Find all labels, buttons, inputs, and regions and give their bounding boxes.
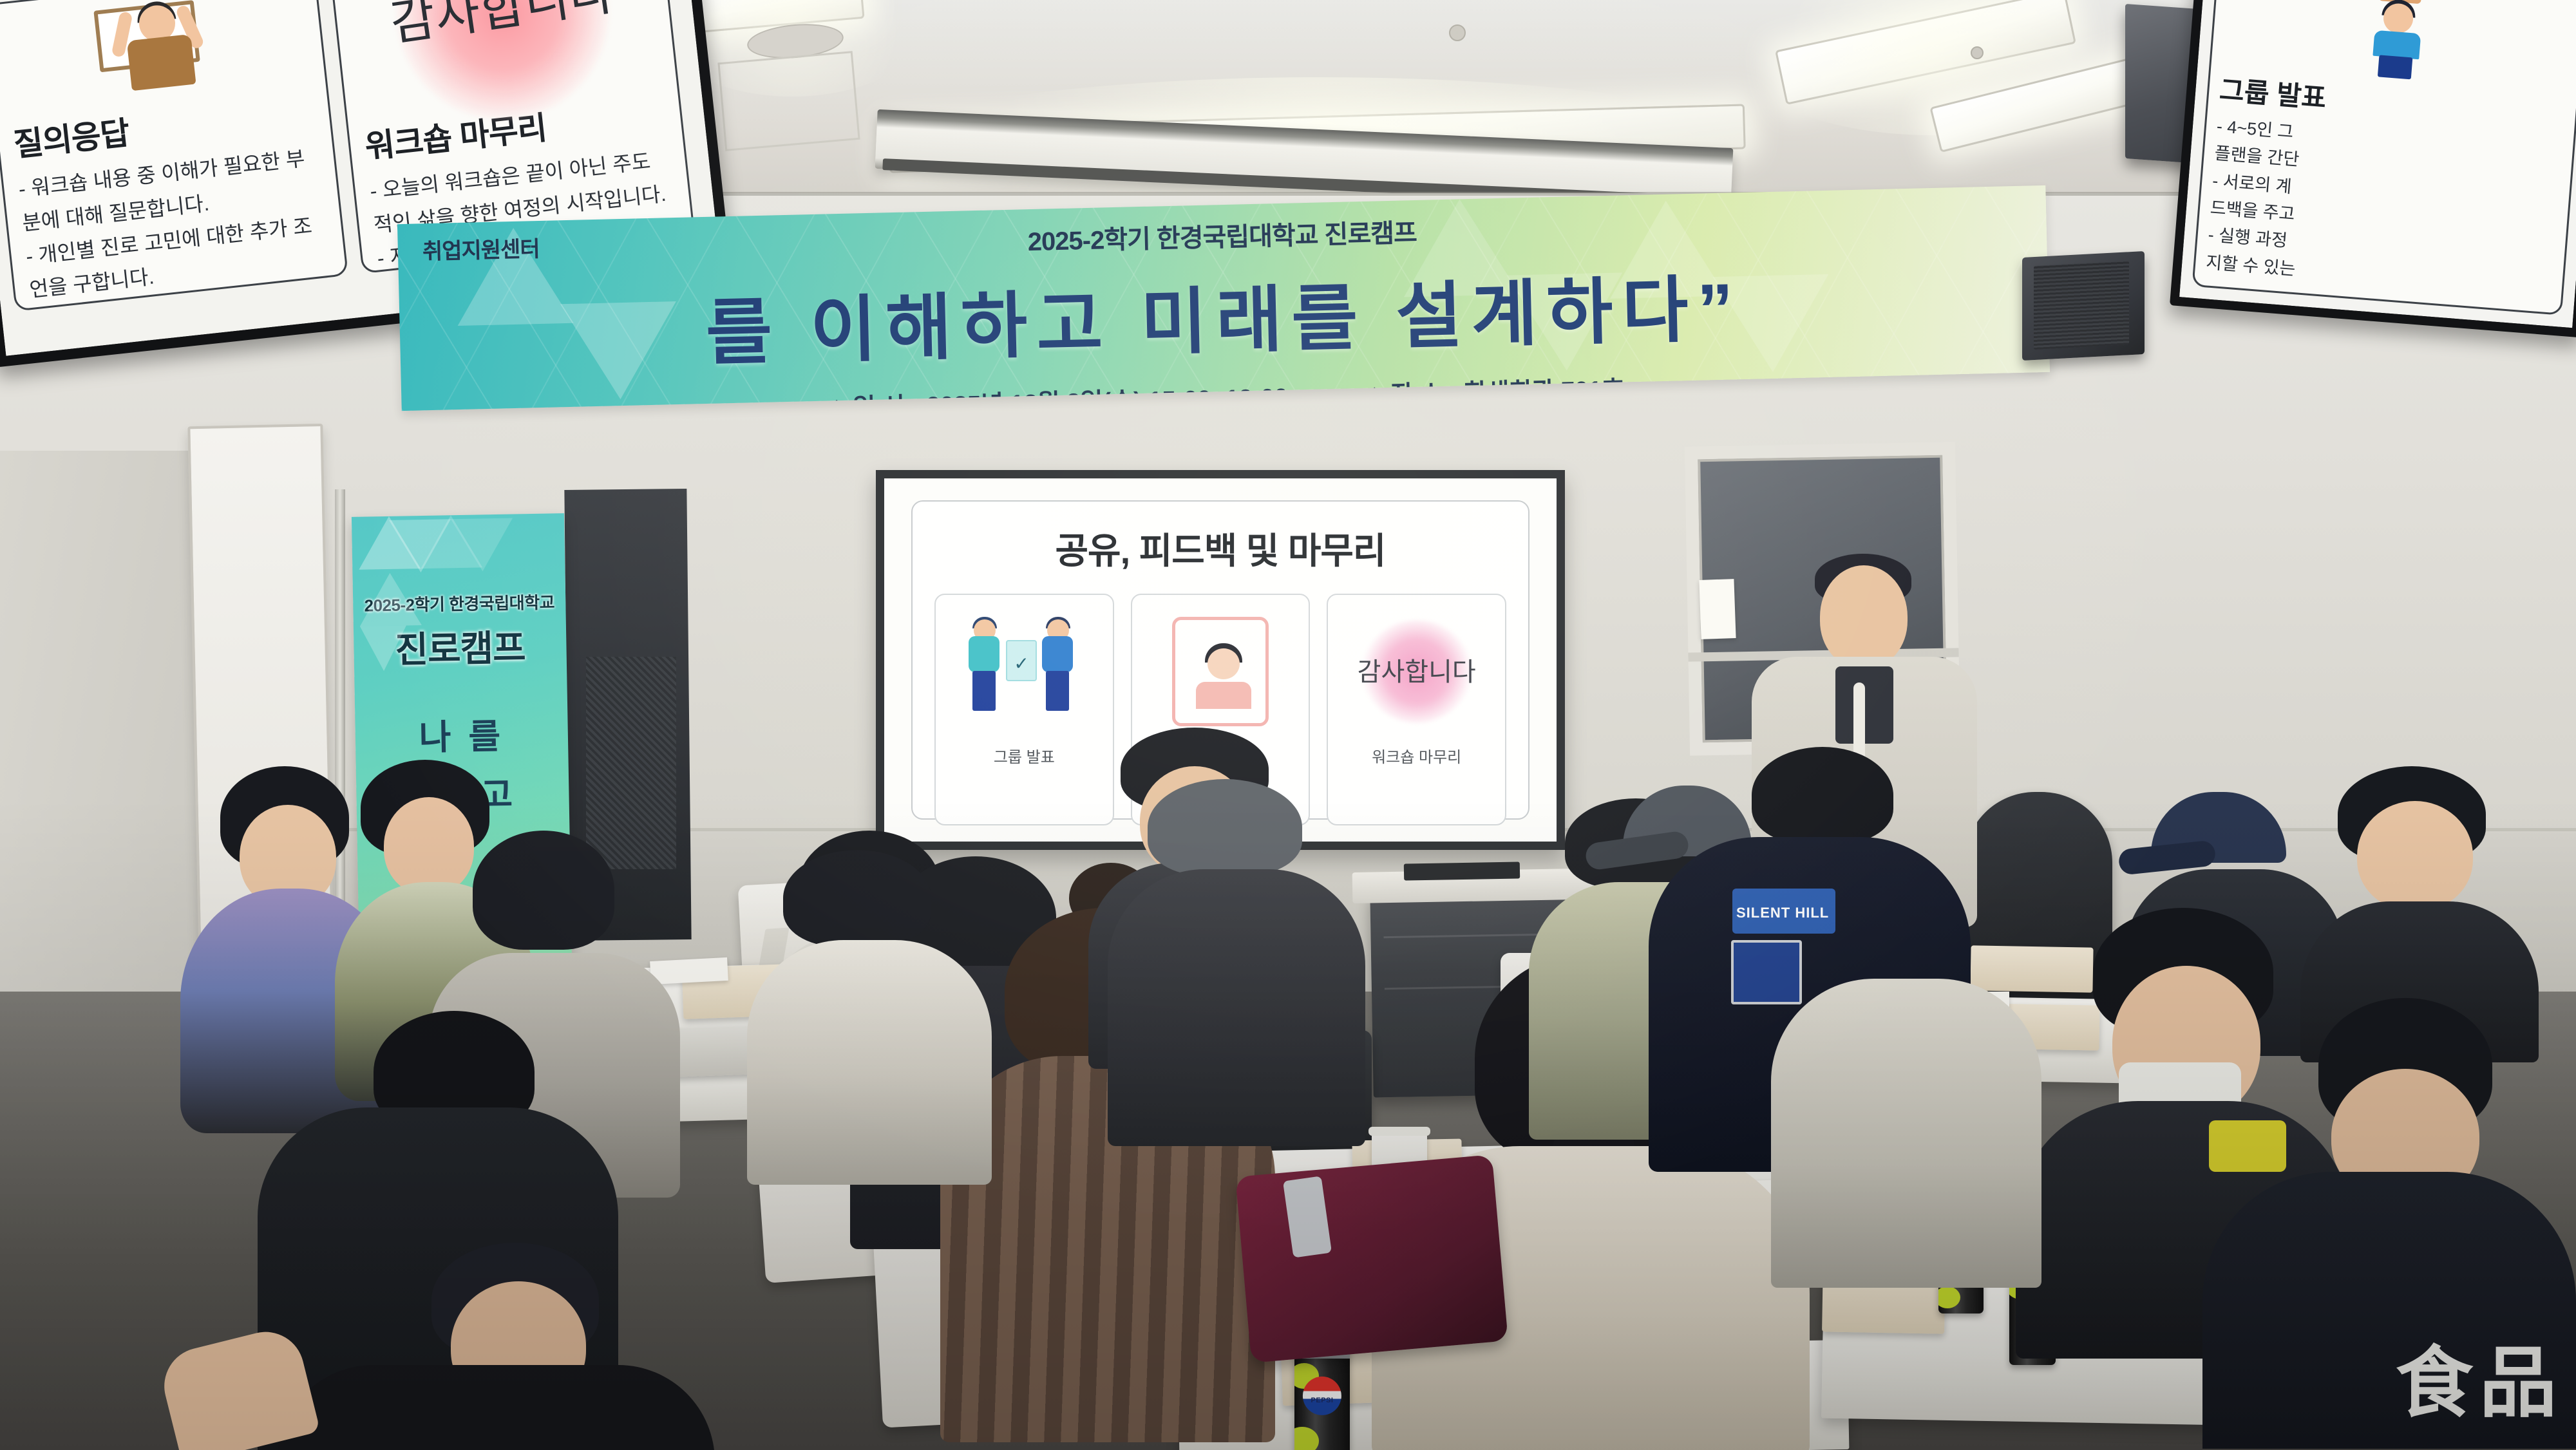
beanie	[1148, 779, 1302, 876]
backpack	[1235, 1154, 1508, 1363]
projector-card-3: 감사합니다 워크숍 마무리	[1327, 594, 1506, 825]
slide-card-body: - 4~5인 그 플랜을 간단 - 서로의 계 드백을 주고 - 실행 과정 지…	[2205, 114, 2563, 301]
slide-card-qna: 질의응답 - 워크숍 내용 중 이해가 필요한 부 분에 대해 질문합니다. -…	[0, 0, 348, 312]
jacket-hanja-text: 食品	[2396, 1320, 2563, 1432]
projector-card-1: ✓ 그룹 발표	[934, 594, 1114, 825]
attendee	[277, 1243, 715, 1450]
paper-sheet	[650, 957, 728, 984]
sprinkler-head-icon	[1449, 24, 1466, 41]
pepsi-can: PEPSI	[1294, 1346, 1350, 1450]
projector-card-label: 워크숍 마무리	[1372, 744, 1461, 767]
projector-slide-title: 공유, 피드백 및 마무리	[913, 522, 1528, 574]
right-monitor-slide: 그룹 발표 - 4~5인 그 플랜을 간단 - 서로의 계 드백을 주고 - 실…	[2179, 0, 2576, 328]
wall-note	[1699, 579, 1736, 639]
standing-banner-line-3: 나 를	[355, 706, 568, 761]
pepsi-can-label: PEPSI	[1311, 1397, 1334, 1404]
thanks-blob-icon: 감사합니다	[1359, 612, 1475, 731]
jacket-patch-label: SILENT HILL	[1736, 905, 1829, 921]
right-wall-monitor: 그룹 발표 - 4~5인 그 플랜을 간단 - 서로의 계 드백을 주고 - 실…	[2170, 0, 2576, 337]
sprinkler-head-icon	[1971, 46, 1984, 59]
attendee: 食品	[2202, 998, 2576, 1450]
ceiling-panel-seam	[717, 51, 860, 151]
classroom-photo-scene: 질의응답 - 워크숍 내용 중 이해가 필요한 부 분에 대해 질문합니다. -…	[0, 0, 2576, 1450]
attendee	[747, 850, 979, 1185]
thanks-text: 감사합니다	[1358, 651, 1476, 688]
wall-speaker	[2022, 251, 2145, 361]
face-card-icon	[1172, 612, 1269, 731]
slide-card-body: - 워크숍 내용 중 이해가 필요한 부 분에 대해 질문합니다. - 개인별 …	[17, 142, 339, 312]
attendee	[1771, 953, 2041, 1288]
console-keyboard	[1404, 862, 1520, 880]
two-people-icon: ✓	[960, 612, 1088, 731]
wall-banner: 취업지원센터 2025-2학기 한경국립대학교 진로캠프 를 이해하고 미래를 …	[397, 185, 2050, 411]
projector-card-label: 그룹 발표	[994, 744, 1055, 767]
attendee	[1121, 779, 1346, 1140]
thanks-blob-icon: 감사합니다	[347, 0, 661, 96]
left-cabinet	[0, 451, 206, 1030]
slide-card-group-presentation: 그룹 발표 - 4~5인 그 플랜을 간단 - 서로의 계 드백을 주고 - 실…	[2192, 0, 2576, 315]
